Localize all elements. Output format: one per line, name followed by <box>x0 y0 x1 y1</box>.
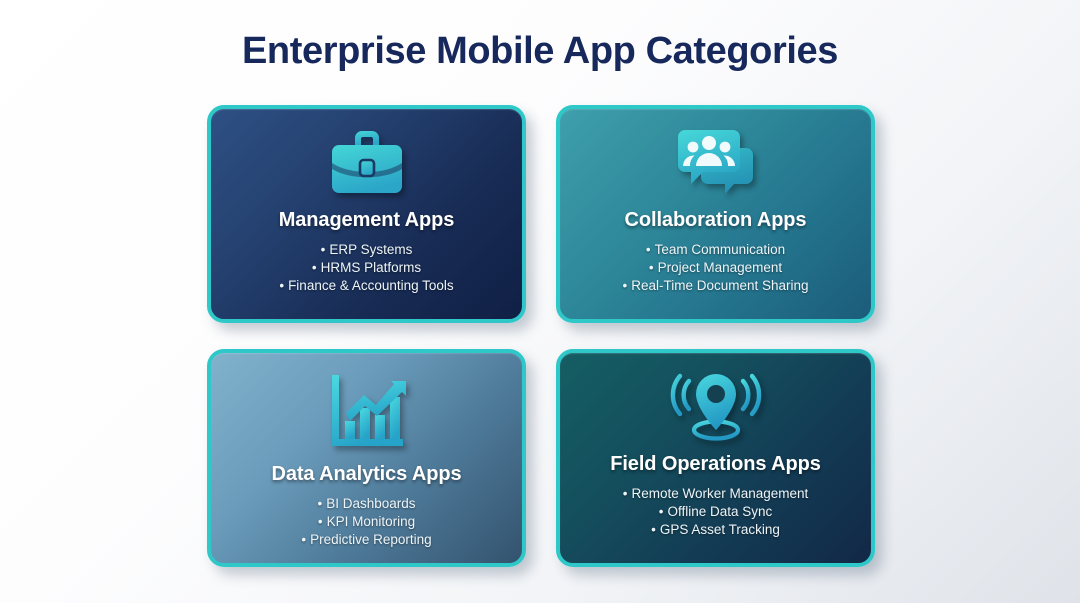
list-item: •Team Communication <box>622 241 808 259</box>
card-bullet-list: •Team Communication •Project Management … <box>622 241 808 296</box>
page-title: Enterprise Mobile App Categories <box>0 30 1080 73</box>
card-bullet-list: •Remote Worker Management •Offline Data … <box>623 485 809 540</box>
category-card-collaboration[interactable]: Collaboration Apps •Team Communication •… <box>556 105 875 323</box>
bullet-text: Predictive Reporting <box>310 532 432 547</box>
bar-chart-growth-icon <box>324 371 410 451</box>
list-item: •KPI Monitoring <box>301 513 431 531</box>
bullet-glyph: • <box>317 496 322 511</box>
bullet-glyph: • <box>651 522 656 537</box>
card-title: Field Operations Apps <box>610 453 821 476</box>
bullet-text: GPS Asset Tracking <box>660 522 780 537</box>
bullet-glyph: • <box>318 514 323 529</box>
list-item: •Offline Data Sync <box>623 503 809 521</box>
card-title: Collaboration Apps <box>625 209 807 232</box>
bullet-glyph: • <box>646 242 651 257</box>
card-title: Data Analytics Apps <box>271 463 461 486</box>
list-item: •Remote Worker Management <box>623 485 809 503</box>
list-item: •GPS Asset Tracking <box>623 521 809 539</box>
list-item: •HRMS Platforms <box>279 259 453 277</box>
card-bullet-list: •ERP Systems •HRMS Platforms •Finance & … <box>279 241 453 296</box>
list-item: •BI Dashboards <box>301 495 431 513</box>
card-title: Management Apps <box>279 209 455 232</box>
category-card-grid: Management Apps •ERP Systems •HRMS Platf… <box>207 105 875 567</box>
bullet-glyph: • <box>312 260 317 275</box>
category-card-field-operations[interactable]: Field Operations Apps •Remote Worker Man… <box>556 349 875 567</box>
bullet-text: Finance & Accounting Tools <box>288 278 454 293</box>
bullet-text: KPI Monitoring <box>327 514 416 529</box>
bullet-text: Real-Time Document Sharing <box>631 278 808 293</box>
list-item: •Real-Time Document Sharing <box>622 277 808 295</box>
bullet-glyph: • <box>279 278 284 293</box>
bullet-text: ERP Systems <box>329 242 412 257</box>
chat-group-icon <box>674 123 758 201</box>
bullet-text: Remote Worker Management <box>631 486 808 501</box>
infographic-page: Enterprise Mobile App Categories <box>0 0 1080 603</box>
bullet-text: Project Management <box>658 260 783 275</box>
bullet-glyph: • <box>622 278 627 293</box>
bullet-glyph: • <box>649 260 654 275</box>
list-item: •Predictive Reporting <box>301 531 431 549</box>
category-card-analytics[interactable]: Data Analytics Apps •BI Dashboards •KPI … <box>207 349 526 567</box>
bullet-glyph: • <box>321 242 326 257</box>
card-bullet-list: •BI Dashboards •KPI Monitoring •Predicti… <box>301 495 431 550</box>
category-card-management[interactable]: Management Apps •ERP Systems •HRMS Platf… <box>207 105 526 323</box>
bullet-text: BI Dashboards <box>326 496 415 511</box>
bullet-glyph: • <box>659 504 664 519</box>
bullet-text: HRMS Platforms <box>321 260 422 275</box>
bullet-text: Team Communication <box>655 242 786 257</box>
list-item: •ERP Systems <box>279 241 453 259</box>
list-item: •Project Management <box>622 259 808 277</box>
bullet-glyph: • <box>623 486 628 501</box>
location-pin-signal-icon <box>669 367 763 445</box>
bullet-text: Offline Data Sync <box>667 504 772 519</box>
bullet-glyph: • <box>301 532 306 547</box>
list-item: •Finance & Accounting Tools <box>279 277 453 295</box>
briefcase-icon <box>324 123 410 201</box>
